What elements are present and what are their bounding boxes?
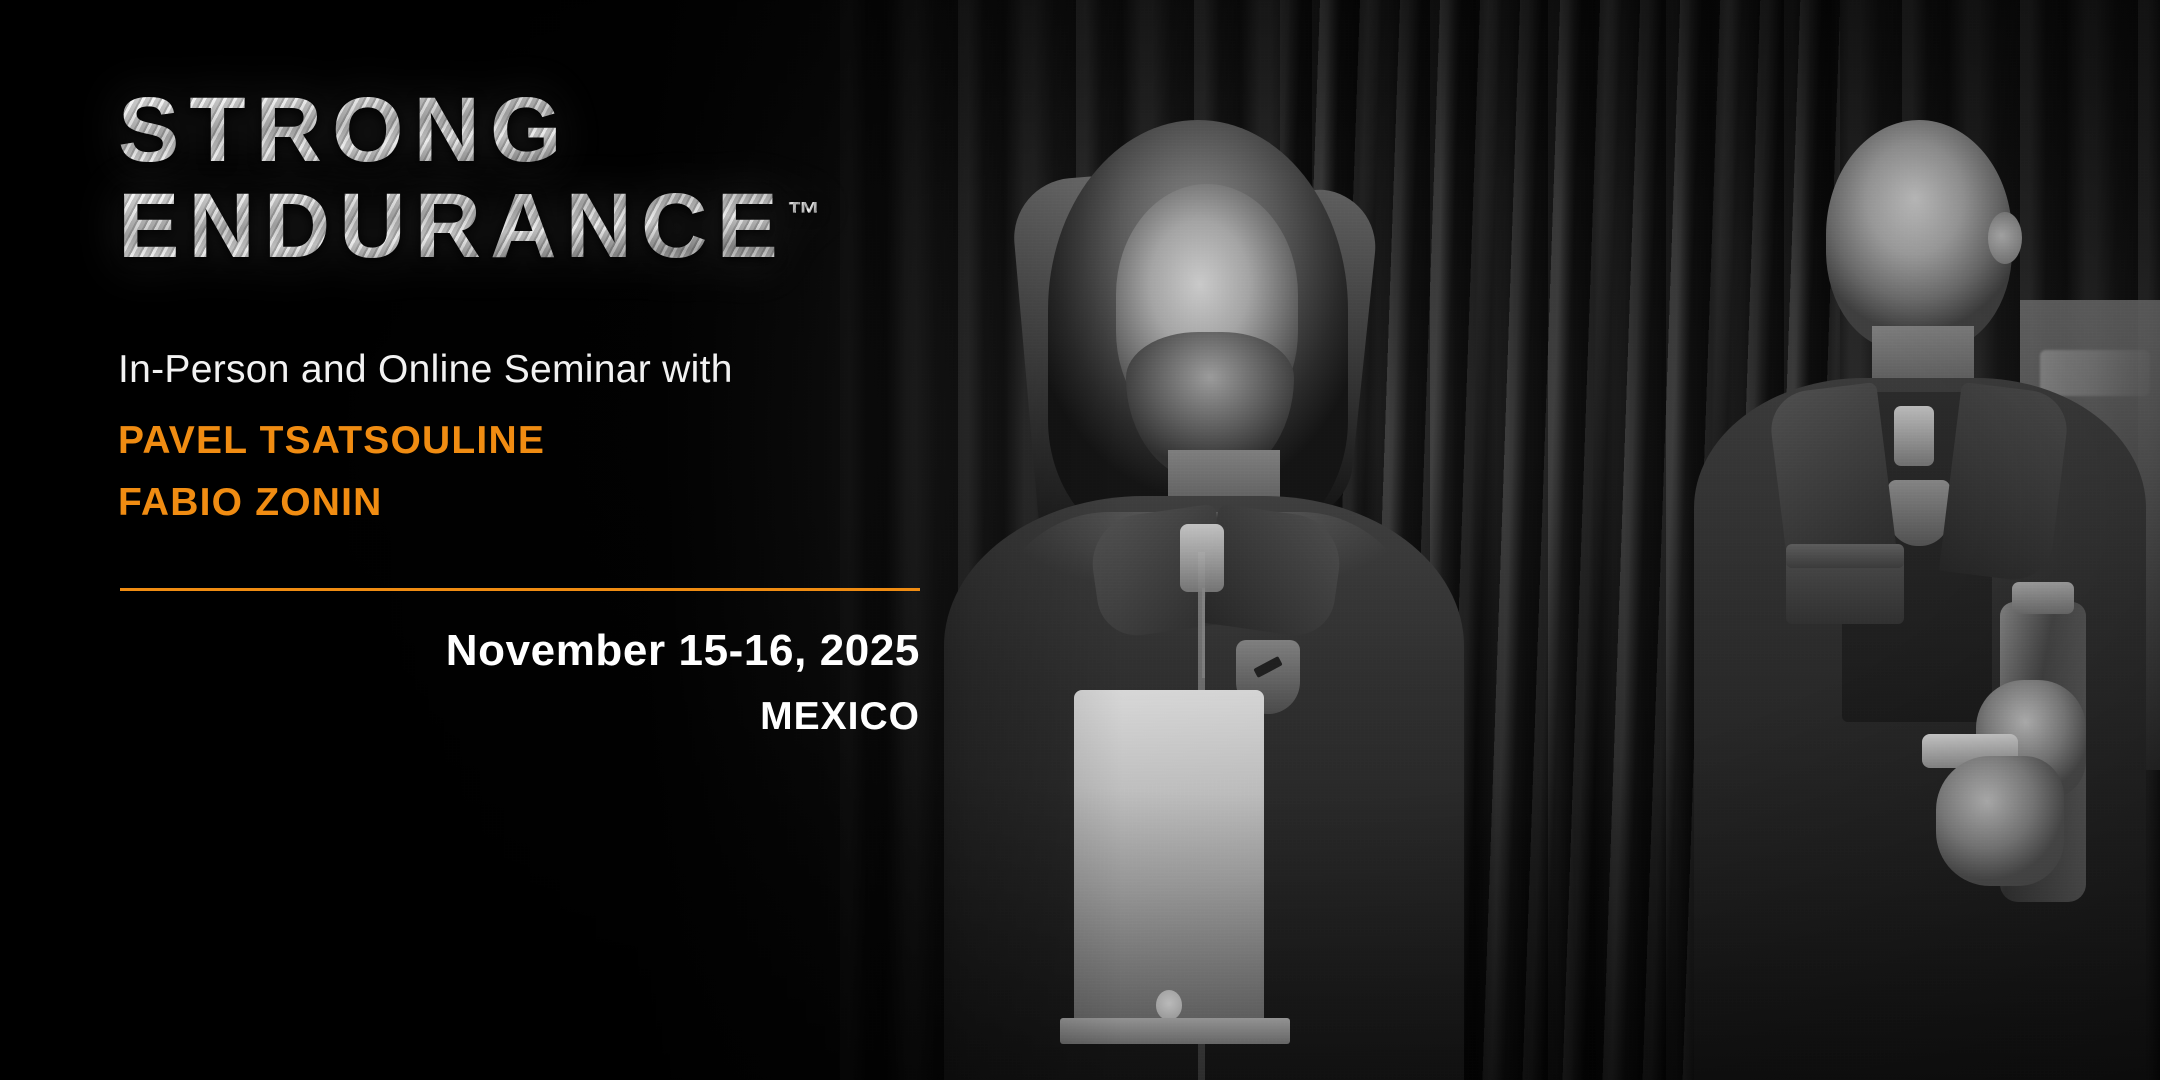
presenter-list: PAVEL TSATSOULINE FABIO ZONIN: [118, 410, 545, 534]
event-details: November 15-16, 2025 MEXICO: [120, 618, 920, 750]
copy-block: STRONG ENDURANCE™ In-Person and Online S…: [0, 0, 960, 1080]
trademark-symbol: ™: [787, 195, 821, 233]
orange-divider-rule: [120, 588, 920, 591]
headline-endurance-text: ENDURANCE: [118, 175, 787, 277]
headline-line-strong: STRONG: [118, 82, 958, 178]
seminar-promo-banner: STRONG ENDURANCE™ In-Person and Online S…: [0, 0, 2160, 1080]
seminar-subtitle: In-Person and Online Seminar with: [118, 348, 733, 392]
event-location: MEXICO: [120, 684, 920, 750]
event-date: November 15-16, 2025: [120, 618, 920, 684]
headline-line-endurance: ENDURANCE™: [118, 178, 958, 274]
headline: STRONG ENDURANCE™: [118, 82, 958, 274]
presenter-name-2: FABIO ZONIN: [118, 472, 545, 534]
presenter-name-1: PAVEL TSATSOULINE: [118, 410, 545, 472]
